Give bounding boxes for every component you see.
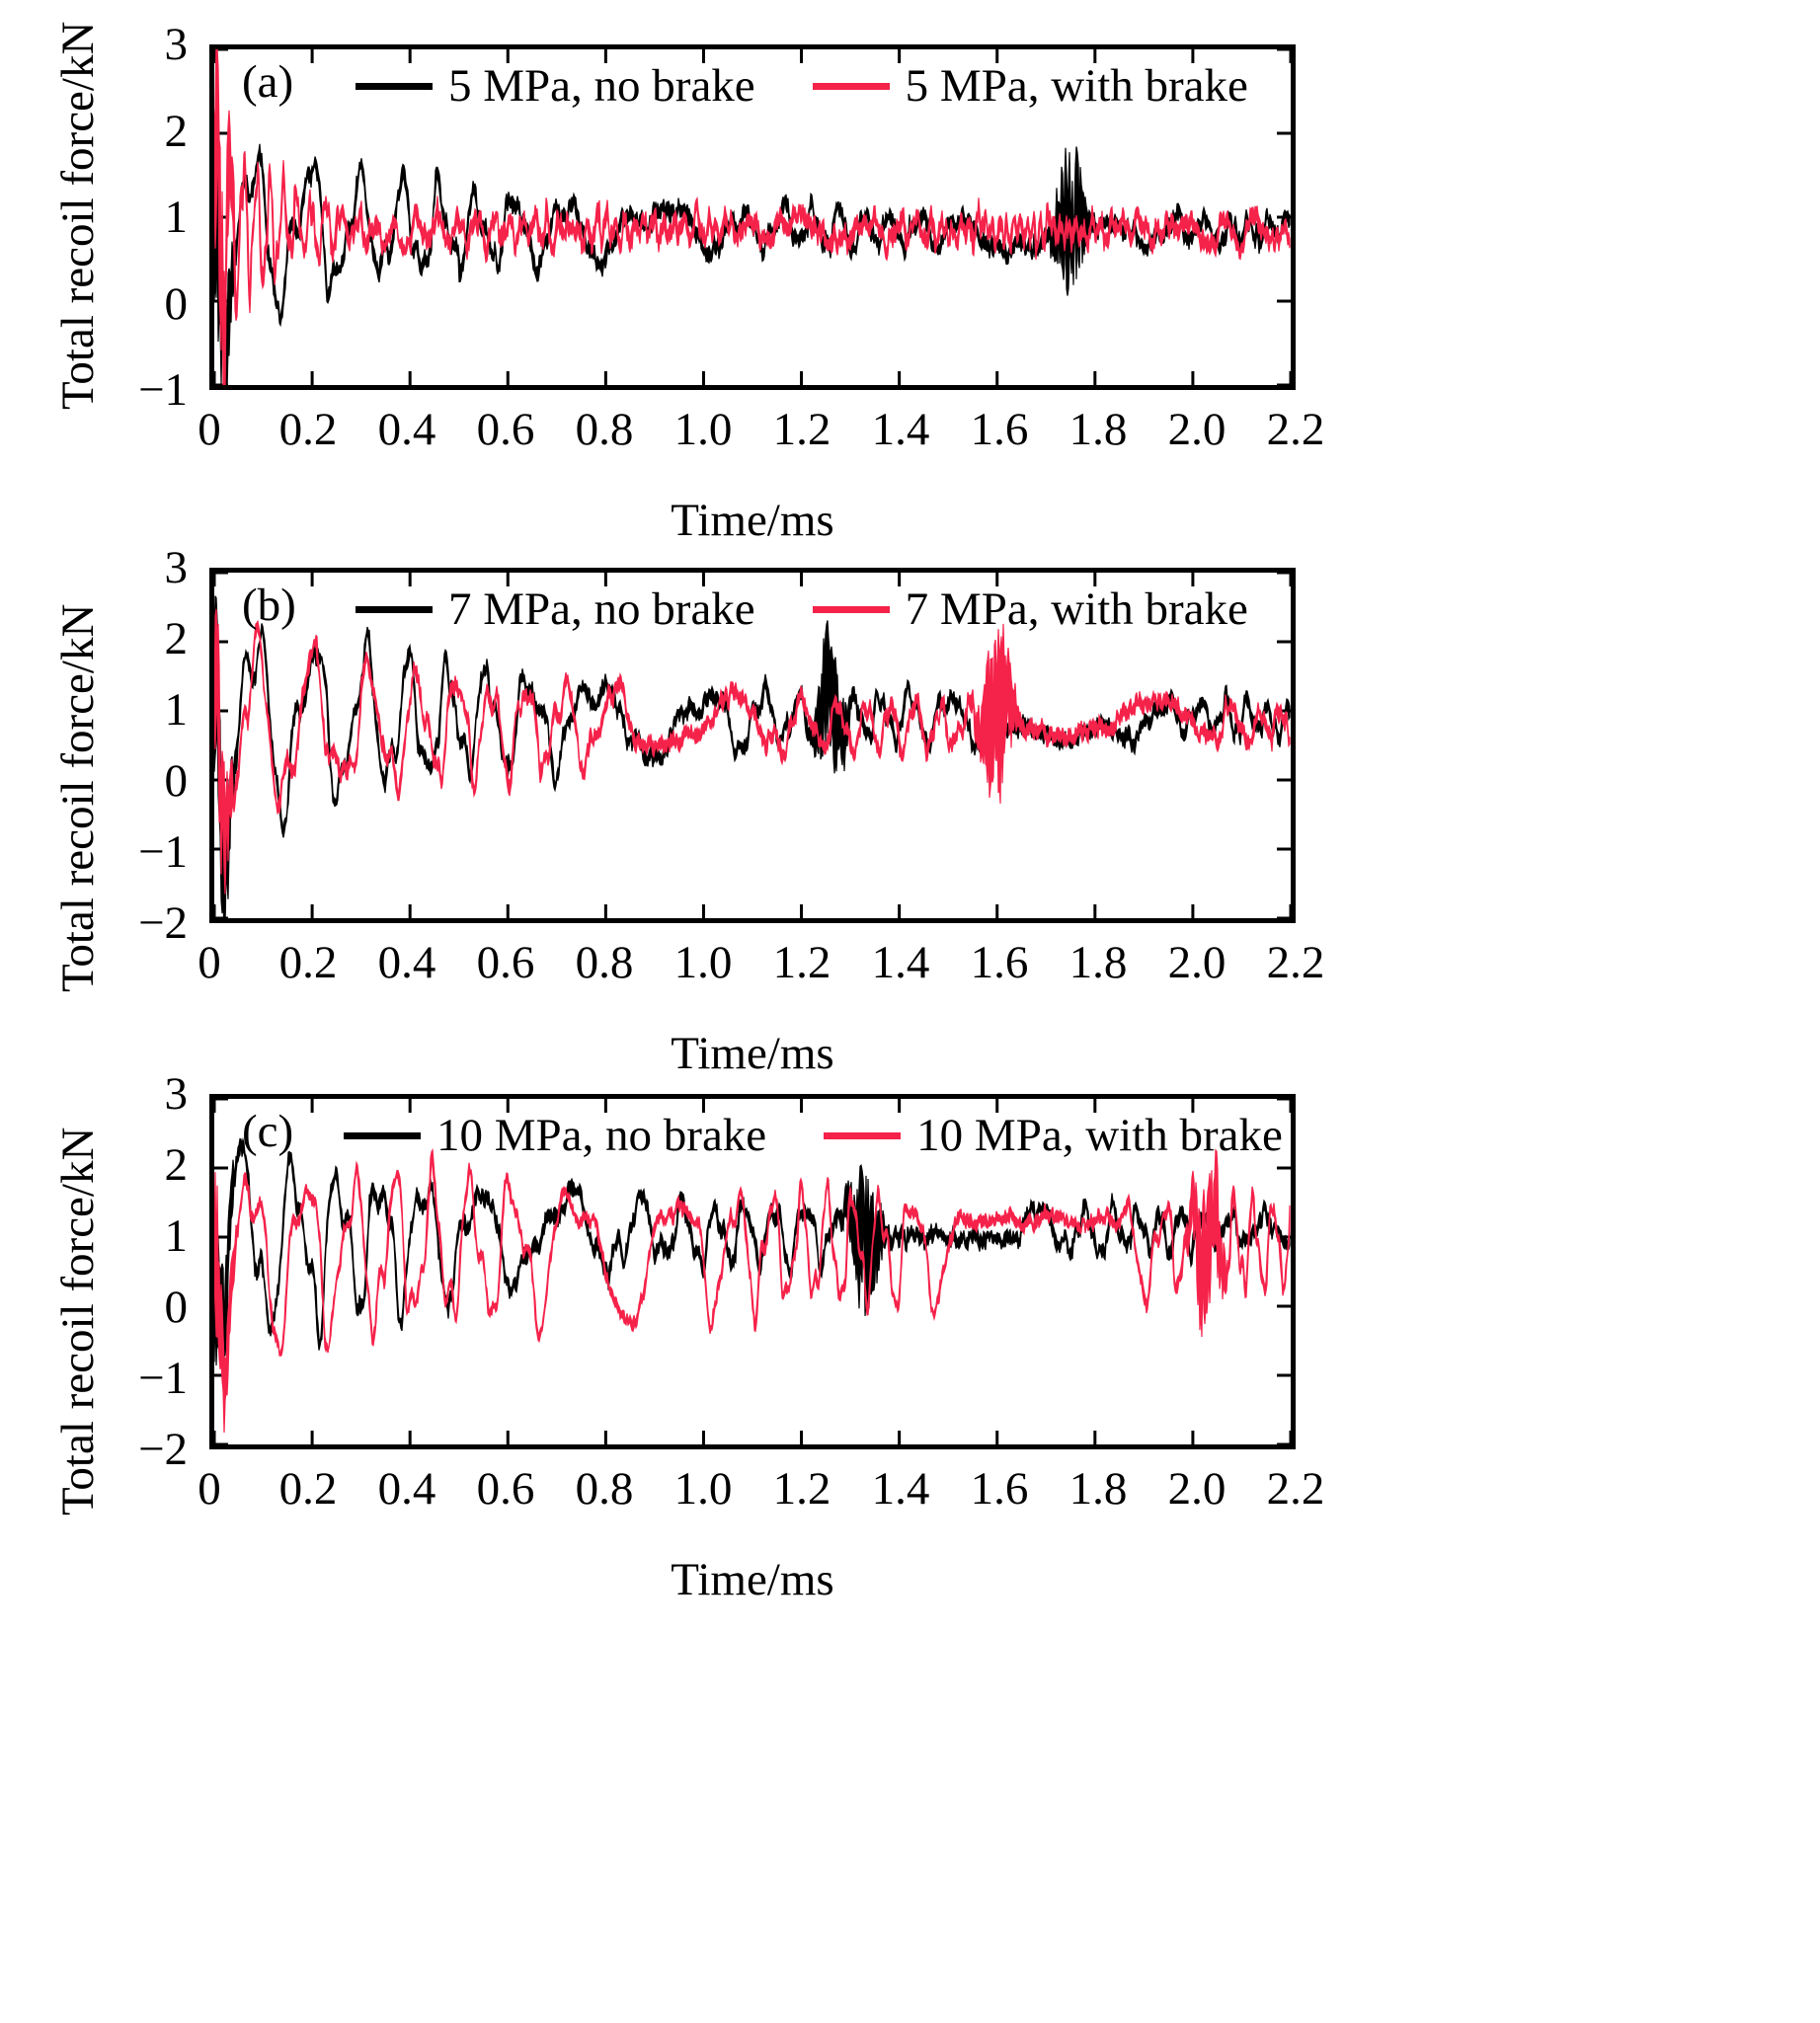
- legend-swatch-red-icon: [813, 83, 890, 90]
- y-tick-b-2: 1: [109, 687, 188, 734]
- panel-label-b: (b): [242, 583, 296, 629]
- x-tick-c-3: 0.6: [456, 1466, 555, 1513]
- legend-entry-a-2: 5 MPa, with brake: [813, 59, 1248, 113]
- legend-swatch-red-icon: [824, 1132, 901, 1139]
- legend-a: 5 MPa, no brake 5 MPa, with brake: [356, 59, 1248, 113]
- x-tick-c-7: 1.4: [851, 1466, 950, 1513]
- legend-b: 7 MPa, no brake 7 MPa, with brake: [356, 583, 1248, 636]
- series-no-brake: [214, 596, 1290, 918]
- x-tick-c-11: 2.2: [1246, 1466, 1345, 1513]
- x-tick-a-6: 1.2: [752, 407, 851, 453]
- x-tick-a-8: 1.6: [950, 407, 1049, 453]
- x-tick-b-2: 0.4: [357, 940, 456, 986]
- legend-c: 10 MPa, no brake 10 MPa, with brake: [344, 1109, 1283, 1162]
- series-with-brake: [214, 609, 1290, 895]
- legend-entry-a-1: 5 MPa, no brake: [356, 59, 755, 113]
- x-tick-a-5: 1.0: [654, 407, 752, 453]
- x-tick-c-0: 0: [160, 1466, 259, 1513]
- legend-swatch-black-icon: [356, 606, 433, 613]
- legend-entry-c-1: 10 MPa, no brake: [344, 1109, 766, 1162]
- x-tick-b-1: 0.2: [259, 940, 357, 986]
- y-axis-title-a: Total recoil force/kN: [51, 22, 105, 410]
- legend-entry-b-1: 7 MPa, no brake: [356, 583, 755, 636]
- x-tick-a-0: 0: [160, 407, 259, 453]
- panel-label-c: (c): [242, 1109, 293, 1155]
- x-tick-c-5: 1.0: [654, 1466, 752, 1513]
- x-tick-c-1: 0.2: [259, 1466, 357, 1513]
- x-tick-a-3: 0.6: [456, 407, 555, 453]
- legend-swatch-black-icon: [344, 1132, 421, 1139]
- x-tick-b-0: 0: [160, 940, 259, 986]
- y-tick-c-3: 0: [109, 1284, 188, 1331]
- x-tick-c-8: 1.6: [950, 1466, 1049, 1513]
- legend-swatch-black-icon: [356, 83, 433, 90]
- y-tick-b-1: 2: [109, 616, 188, 662]
- x-tick-b-6: 1.2: [752, 940, 851, 986]
- legend-label-b-1: 7 MPa, no brake: [448, 583, 755, 636]
- x-tick-c-6: 1.2: [752, 1466, 851, 1513]
- panel-c: Total recoil force/kN (c) 10 MPa, no bra…: [0, 1042, 1820, 1693]
- x-tick-a-9: 1.8: [1049, 407, 1147, 453]
- x-tick-c-10: 2.0: [1147, 1466, 1246, 1513]
- legend-label-c-1: 10 MPa, no brake: [436, 1109, 766, 1162]
- x-tick-b-11: 2.2: [1246, 940, 1345, 986]
- x-tick-a-11: 2.2: [1246, 407, 1345, 453]
- y-tick-b-4: −1: [89, 829, 188, 876]
- figure-root: Total recoil force/kN (a) 5 MPa, no brak…: [0, 0, 1820, 2023]
- series-no-brake: [214, 123, 1290, 385]
- panel-label-a: (a): [242, 59, 293, 106]
- x-axis-title-c: Time/ms: [604, 1553, 901, 1606]
- series-no-brake: [214, 1139, 1290, 1372]
- legend-label-b-2: 7 MPa, with brake: [906, 583, 1248, 636]
- legend-label-a-1: 5 MPa, no brake: [448, 59, 755, 113]
- y-tick-a-1: 2: [109, 109, 188, 155]
- y-tick-c-4: −1: [89, 1356, 188, 1402]
- y-tick-c-1: 2: [109, 1142, 188, 1189]
- x-tick-c-4: 0.8: [555, 1466, 654, 1513]
- y-tick-b-3: 0: [109, 758, 188, 805]
- legend-swatch-red-icon: [813, 606, 890, 613]
- y-tick-c-0: 3: [109, 1071, 188, 1118]
- x-tick-a-4: 0.8: [555, 407, 654, 453]
- y-tick-a-3: 0: [109, 281, 188, 328]
- y-tick-a-0: 3: [109, 22, 188, 68]
- x-tick-a-7: 1.4: [851, 407, 950, 453]
- x-tick-b-8: 1.6: [950, 940, 1049, 986]
- y-tick-b-0: 3: [109, 545, 188, 591]
- x-tick-b-4: 0.8: [555, 940, 654, 986]
- legend-label-c-2: 10 MPa, with brake: [916, 1109, 1283, 1162]
- x-tick-b-7: 1.4: [851, 940, 950, 986]
- x-tick-b-9: 1.8: [1049, 940, 1147, 986]
- x-tick-a-10: 2.0: [1147, 407, 1246, 453]
- legend-entry-c-2: 10 MPa, with brake: [824, 1109, 1283, 1162]
- x-tick-a-2: 0.4: [357, 407, 456, 453]
- legend-entry-b-2: 7 MPa, with brake: [813, 583, 1248, 636]
- x-tick-a-1: 0.2: [259, 407, 357, 453]
- x-tick-b-10: 2.0: [1147, 940, 1246, 986]
- x-tick-b-3: 0.6: [456, 940, 555, 986]
- y-tick-c-2: 1: [109, 1213, 188, 1260]
- y-tick-a-2: 1: [109, 195, 188, 241]
- x-tick-c-2: 0.4: [357, 1466, 456, 1513]
- x-tick-b-5: 1.0: [654, 940, 752, 986]
- legend-label-a-2: 5 MPa, with brake: [906, 59, 1248, 113]
- x-tick-c-9: 1.8: [1049, 1466, 1147, 1513]
